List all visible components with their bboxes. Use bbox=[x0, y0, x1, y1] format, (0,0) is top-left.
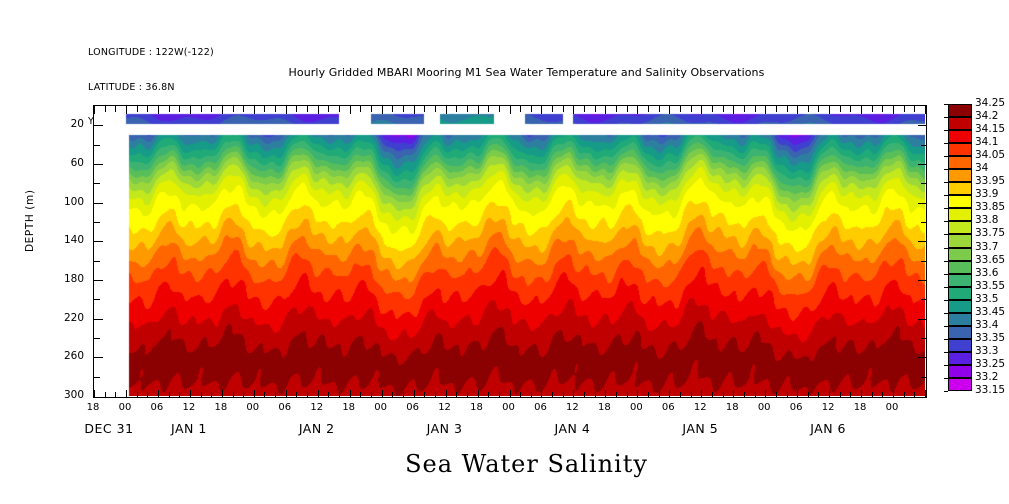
x-tick-bottom bbox=[211, 392, 212, 398]
colorbar-tick bbox=[944, 234, 948, 235]
x-tick-top bbox=[158, 106, 159, 114]
x-tick-top bbox=[744, 106, 745, 112]
colorbar-swatch bbox=[948, 208, 972, 221]
x-tick-bottom bbox=[765, 390, 766, 398]
colorbar-swatch bbox=[948, 326, 972, 339]
colorbar-swatch bbox=[948, 130, 972, 143]
contour-plot bbox=[93, 105, 927, 398]
x-tick-top bbox=[115, 106, 116, 112]
x-tick-bottom bbox=[307, 392, 308, 398]
salinity-field bbox=[94, 106, 926, 397]
x-tick-top bbox=[222, 106, 223, 114]
x-tick-bottom bbox=[787, 392, 788, 398]
x-tick-top bbox=[424, 106, 425, 112]
y-axis-label: 180 bbox=[52, 273, 84, 285]
x-tick-bottom bbox=[275, 392, 276, 398]
y-tick-left bbox=[94, 125, 103, 126]
colorbar-tick bbox=[944, 156, 948, 157]
x-tick-bottom bbox=[808, 392, 809, 398]
x-axis-date-label: JAN 4 bbox=[555, 421, 591, 436]
y-tick-right bbox=[918, 241, 927, 242]
colorbar-row: 34 bbox=[948, 169, 972, 182]
colorbar-row: 34.25 bbox=[948, 104, 972, 117]
x-tick-bottom bbox=[201, 392, 202, 398]
x-tick-bottom bbox=[424, 392, 425, 398]
x-tick-top bbox=[510, 106, 511, 114]
x-tick-bottom bbox=[723, 392, 724, 398]
y-tick-right bbox=[921, 377, 927, 378]
x-tick-top bbox=[243, 106, 244, 112]
y-tick-left bbox=[94, 203, 103, 204]
x-tick-top bbox=[787, 106, 788, 112]
x-axis-hour-label: 00 bbox=[246, 402, 259, 413]
colorbar-tick bbox=[944, 195, 948, 196]
y-tick-right bbox=[921, 222, 927, 223]
x-axis-hour-label: 18 bbox=[726, 402, 739, 413]
colorbar-row: 33.75 bbox=[948, 234, 972, 247]
x-axis-hour-label: 06 bbox=[534, 402, 547, 413]
x-tick-bottom bbox=[222, 390, 223, 398]
x-tick-top bbox=[659, 106, 660, 112]
x-tick-top bbox=[563, 106, 564, 112]
x-axis-hour-label: 12 bbox=[310, 402, 323, 413]
x-axis-hour-label: 06 bbox=[406, 402, 419, 413]
x-tick-top bbox=[541, 106, 542, 114]
y-tick-left bbox=[94, 319, 103, 320]
x-axis-date-label: DEC 31 bbox=[84, 421, 133, 436]
y-axis-label: 220 bbox=[52, 312, 84, 324]
y-tick-right bbox=[918, 280, 927, 281]
x-axis-hour-label: 18 bbox=[598, 402, 611, 413]
colorbar-swatch bbox=[948, 287, 972, 300]
x-tick-top bbox=[925, 106, 926, 114]
x-tick-top bbox=[893, 106, 894, 114]
x-tick-top bbox=[105, 106, 106, 112]
x-tick-bottom bbox=[755, 392, 756, 398]
x-tick-bottom bbox=[382, 390, 383, 398]
x-tick-top bbox=[882, 106, 883, 112]
x-tick-top bbox=[733, 106, 734, 114]
colorbar-tick bbox=[944, 378, 948, 379]
colorbar-swatch bbox=[948, 365, 972, 378]
x-tick-bottom bbox=[818, 392, 819, 398]
colorbar-swatch bbox=[948, 104, 972, 117]
x-tick-bottom bbox=[744, 392, 745, 398]
x-tick-top bbox=[318, 106, 319, 114]
x-tick-bottom bbox=[147, 392, 148, 398]
colorbar-row: 33.9 bbox=[948, 195, 972, 208]
colorbar-row: 34.2 bbox=[948, 117, 972, 130]
colorbar-tick bbox=[944, 221, 948, 222]
colorbar-label: 34.1 bbox=[975, 136, 998, 148]
x-tick-top bbox=[169, 106, 170, 112]
colorbar-row: 33.35 bbox=[948, 339, 972, 352]
x-tick-bottom bbox=[712, 392, 713, 398]
x-tick-bottom bbox=[691, 392, 692, 398]
x-axis-hour-label: 12 bbox=[183, 402, 196, 413]
x-tick-bottom bbox=[371, 392, 372, 398]
colorbar-label: 33.2 bbox=[975, 371, 998, 383]
x-tick-top bbox=[190, 106, 191, 114]
x-tick-top bbox=[861, 106, 862, 114]
x-tick-top bbox=[137, 106, 138, 112]
longitude-text: LONGITUDE : 122W(-122) bbox=[88, 47, 214, 59]
x-tick-bottom bbox=[733, 390, 734, 398]
x-tick-top bbox=[829, 106, 830, 114]
colorbar-label: 33.8 bbox=[975, 214, 998, 226]
colorbar-tick bbox=[944, 300, 948, 301]
x-tick-top bbox=[382, 106, 383, 114]
colorbar-row: 33.3 bbox=[948, 352, 972, 365]
y-tick-right bbox=[918, 357, 927, 358]
x-tick-bottom bbox=[350, 390, 351, 398]
x-tick-bottom bbox=[296, 392, 297, 398]
colorbar-swatch bbox=[948, 300, 972, 313]
x-tick-top bbox=[680, 106, 681, 112]
y-tick-left bbox=[94, 280, 103, 281]
colorbar-swatch bbox=[948, 339, 972, 352]
x-tick-bottom bbox=[861, 390, 862, 398]
x-tick-bottom bbox=[137, 392, 138, 398]
x-tick-bottom bbox=[829, 390, 830, 398]
x-tick-top bbox=[201, 106, 202, 112]
x-tick-top bbox=[616, 106, 617, 112]
x-axis-hour-label: 00 bbox=[502, 402, 515, 413]
x-tick-bottom bbox=[179, 392, 180, 398]
colorbar-label: 33.55 bbox=[975, 280, 1005, 292]
y-tick-right bbox=[921, 299, 927, 300]
colorbar-label: 33.6 bbox=[975, 267, 998, 279]
colorbar-label: 33.25 bbox=[975, 358, 1005, 370]
colorbar-tick bbox=[944, 274, 948, 275]
x-tick-bottom bbox=[584, 392, 585, 398]
x-tick-top bbox=[233, 106, 234, 112]
chart-title: Hourly Gridded MBARI Mooring M1 Sea Wate… bbox=[0, 66, 1009, 79]
latitude-text: LATITUDE : 36.8N bbox=[88, 82, 214, 94]
y-tick-left bbox=[94, 222, 100, 223]
x-tick-top bbox=[818, 106, 819, 112]
x-tick-top bbox=[94, 106, 95, 114]
x-tick-bottom bbox=[446, 390, 447, 398]
x-tick-top bbox=[840, 106, 841, 112]
x-tick-top bbox=[147, 106, 148, 112]
x-axis-hour-label: 06 bbox=[278, 402, 291, 413]
colorbar-tick bbox=[944, 313, 948, 314]
colorbar-row: 33.5 bbox=[948, 300, 972, 313]
colorbar-row: 33.55 bbox=[948, 287, 972, 300]
colorbar-label: 33.85 bbox=[975, 201, 1005, 213]
x-tick-bottom bbox=[520, 392, 521, 398]
colorbar-tick bbox=[944, 208, 948, 209]
colorbar-tick bbox=[944, 326, 948, 327]
x-tick-bottom bbox=[595, 392, 596, 398]
colorbar-row: 33.95 bbox=[948, 182, 972, 195]
x-tick-top bbox=[446, 106, 447, 114]
x-tick-bottom bbox=[264, 392, 265, 398]
x-tick-bottom bbox=[605, 390, 606, 398]
x-tick-top bbox=[360, 106, 361, 112]
y-tick-left bbox=[94, 241, 103, 242]
colorbar: 34.2534.234.1534.134.053433.9533.933.853… bbox=[948, 104, 972, 404]
x-tick-top bbox=[275, 106, 276, 112]
x-axis-hour-label: 18 bbox=[342, 402, 355, 413]
y-tick-right bbox=[921, 145, 927, 146]
colorbar-tick bbox=[944, 143, 948, 144]
colorbar-tick bbox=[944, 117, 948, 118]
colorbar-row: 33.65 bbox=[948, 261, 972, 274]
colorbar-label: 33.65 bbox=[975, 254, 1005, 266]
x-tick-top bbox=[371, 106, 372, 112]
y-axis-label: 100 bbox=[52, 196, 84, 208]
colorbar-tick bbox=[944, 365, 948, 366]
colorbar-tick bbox=[944, 248, 948, 249]
x-tick-bottom bbox=[169, 392, 170, 398]
colorbar-swatch bbox=[948, 261, 972, 274]
x-tick-top bbox=[755, 106, 756, 112]
x-tick-bottom bbox=[669, 390, 670, 398]
x-axis-hour-label: 18 bbox=[854, 402, 867, 413]
colorbar-row: 34.15 bbox=[948, 130, 972, 143]
x-tick-top bbox=[339, 106, 340, 112]
x-tick-top bbox=[904, 106, 905, 112]
x-tick-bottom bbox=[797, 390, 798, 398]
x-tick-top bbox=[179, 106, 180, 112]
colorbar-tick bbox=[944, 352, 948, 353]
x-axis-hour-label: 00 bbox=[886, 402, 899, 413]
x-tick-bottom bbox=[286, 390, 287, 398]
x-tick-bottom bbox=[467, 392, 468, 398]
x-tick-bottom bbox=[563, 392, 564, 398]
x-tick-bottom bbox=[882, 392, 883, 398]
x-axis-date-label: JAN 2 bbox=[299, 421, 335, 436]
x-tick-top bbox=[350, 106, 351, 114]
x-tick-bottom bbox=[233, 392, 234, 398]
x-tick-bottom bbox=[414, 390, 415, 398]
colorbar-swatch bbox=[948, 221, 972, 234]
colorbar-swatch bbox=[948, 169, 972, 182]
x-tick-top bbox=[723, 106, 724, 112]
x-tick-bottom bbox=[360, 392, 361, 398]
x-tick-bottom bbox=[478, 390, 479, 398]
x-tick-bottom bbox=[115, 392, 116, 398]
x-tick-top bbox=[669, 106, 670, 114]
x-tick-bottom bbox=[339, 392, 340, 398]
x-tick-bottom bbox=[435, 392, 436, 398]
x-tick-bottom bbox=[872, 392, 873, 398]
x-tick-bottom bbox=[531, 392, 532, 398]
colorbar-label: 33.5 bbox=[975, 293, 998, 305]
y-axis-label: 300 bbox=[52, 389, 84, 401]
x-tick-top bbox=[296, 106, 297, 112]
x-tick-top bbox=[520, 106, 521, 112]
x-tick-top bbox=[264, 106, 265, 112]
x-tick-bottom bbox=[126, 390, 127, 398]
colorbar-label: 33.75 bbox=[975, 227, 1005, 239]
x-tick-top bbox=[584, 106, 585, 112]
x-tick-top bbox=[552, 106, 553, 112]
x-tick-top bbox=[797, 106, 798, 114]
x-tick-bottom bbox=[243, 392, 244, 398]
colorbar-tick bbox=[944, 391, 948, 392]
colorbar-swatch bbox=[948, 156, 972, 169]
x-tick-top bbox=[712, 106, 713, 112]
x-axis-hour-label: 12 bbox=[694, 402, 707, 413]
y-tick-right bbox=[921, 183, 927, 184]
x-tick-bottom bbox=[840, 392, 841, 398]
colorbar-tick bbox=[944, 104, 948, 105]
colorbar-label: 33.3 bbox=[975, 345, 998, 357]
colorbar-row: 33.45 bbox=[948, 313, 972, 326]
colorbar-row: 33.6 bbox=[948, 274, 972, 287]
colorbar-tick bbox=[944, 182, 948, 183]
colorbar-label: 34.05 bbox=[975, 149, 1005, 161]
x-axis-hour-label: 00 bbox=[630, 402, 643, 413]
y-tick-right bbox=[918, 319, 927, 320]
colorbar-row: 33.85 bbox=[948, 208, 972, 221]
x-tick-top bbox=[605, 106, 606, 114]
x-tick-bottom bbox=[488, 392, 489, 398]
x-tick-top bbox=[467, 106, 468, 112]
x-tick-top bbox=[403, 106, 404, 112]
x-tick-bottom bbox=[893, 390, 894, 398]
x-tick-bottom bbox=[541, 390, 542, 398]
colorbar-swatch bbox=[948, 313, 972, 326]
x-axis-hour-label: 00 bbox=[758, 402, 771, 413]
colorbar-label: 34 bbox=[975, 162, 988, 174]
colorbar-row: 33.25 bbox=[948, 365, 972, 378]
y-axis-label: 20 bbox=[52, 118, 84, 130]
x-tick-top bbox=[478, 106, 479, 114]
y-tick-right bbox=[918, 164, 927, 165]
x-axis-hour-label: 00 bbox=[119, 402, 132, 413]
x-tick-bottom bbox=[158, 390, 159, 398]
variable-title: Sea Water Salinity bbox=[0, 450, 1009, 478]
x-axis-hour-label: 18 bbox=[214, 402, 227, 413]
x-tick-top bbox=[776, 106, 777, 112]
x-tick-bottom bbox=[776, 392, 777, 398]
x-tick-bottom bbox=[850, 392, 851, 398]
colorbar-row: 33.4 bbox=[948, 326, 972, 339]
x-tick-bottom bbox=[637, 390, 638, 398]
colorbar-swatch bbox=[948, 234, 972, 247]
x-tick-top bbox=[872, 106, 873, 112]
x-tick-bottom bbox=[94, 390, 95, 398]
colorbar-label: 33.7 bbox=[975, 241, 998, 253]
x-axis-hour-label: 00 bbox=[374, 402, 387, 413]
x-tick-bottom bbox=[499, 392, 500, 398]
colorbar-row: 33.7 bbox=[948, 248, 972, 261]
x-tick-top bbox=[850, 106, 851, 112]
x-axis-hour-label: 18 bbox=[470, 402, 483, 413]
colorbar-tick bbox=[944, 169, 948, 170]
colorbar-label: 34.15 bbox=[975, 123, 1005, 135]
colorbar-row: 34.1 bbox=[948, 143, 972, 156]
x-axis-hour-label: 06 bbox=[662, 402, 675, 413]
colorbar-swatch bbox=[948, 378, 972, 391]
y-tick-right bbox=[918, 203, 927, 204]
x-tick-bottom bbox=[701, 390, 702, 398]
x-axis-hour-label: 12 bbox=[566, 402, 579, 413]
x-tick-top bbox=[254, 106, 255, 114]
x-tick-top bbox=[328, 106, 329, 112]
y-tick-left bbox=[94, 377, 100, 378]
y-tick-left bbox=[94, 338, 100, 339]
x-tick-top bbox=[488, 106, 489, 112]
y-tick-left bbox=[94, 183, 100, 184]
y-axis-label: 260 bbox=[52, 350, 84, 362]
x-axis-hour-label: 18 bbox=[87, 402, 100, 413]
x-tick-bottom bbox=[318, 390, 319, 398]
x-axis-date-label: JAN 6 bbox=[810, 421, 846, 436]
x-tick-top bbox=[637, 106, 638, 114]
y-tick-left bbox=[94, 145, 100, 146]
x-tick-bottom bbox=[510, 390, 511, 398]
colorbar-row: 34.05 bbox=[948, 156, 972, 169]
colorbar-swatch bbox=[948, 117, 972, 130]
colorbar-swatch bbox=[948, 274, 972, 287]
x-tick-top bbox=[627, 106, 628, 112]
salinity-contour-canvas bbox=[94, 106, 925, 396]
colorbar-row: 33.2 bbox=[948, 378, 972, 391]
x-tick-bottom bbox=[904, 392, 905, 398]
x-tick-top bbox=[414, 106, 415, 114]
x-tick-top bbox=[456, 106, 457, 112]
y-axis-label: 60 bbox=[52, 157, 84, 169]
colorbar-label: 33.15 bbox=[975, 384, 1005, 396]
colorbar-label: 33.9 bbox=[975, 188, 998, 200]
colorbar-label: 33.45 bbox=[975, 306, 1005, 318]
x-tick-top bbox=[392, 106, 393, 112]
x-tick-bottom bbox=[573, 390, 574, 398]
x-tick-top bbox=[435, 106, 436, 112]
x-tick-bottom bbox=[403, 392, 404, 398]
x-tick-bottom bbox=[328, 392, 329, 398]
y-axis-title: DEPTH (m) bbox=[24, 189, 36, 252]
y-tick-right bbox=[921, 338, 927, 339]
colorbar-label: 34.25 bbox=[975, 97, 1005, 109]
x-tick-bottom bbox=[552, 392, 553, 398]
x-axis-date-label: JAN 1 bbox=[171, 421, 207, 436]
y-tick-left bbox=[94, 299, 100, 300]
x-tick-bottom bbox=[392, 392, 393, 398]
colorbar-row: 33.15 bbox=[948, 391, 972, 404]
x-tick-bottom bbox=[190, 390, 191, 398]
colorbar-label: 33.4 bbox=[975, 319, 998, 331]
x-tick-top bbox=[286, 106, 287, 114]
x-tick-bottom bbox=[456, 392, 457, 398]
x-tick-top bbox=[595, 106, 596, 112]
colorbar-swatch bbox=[948, 195, 972, 208]
x-tick-bottom bbox=[616, 392, 617, 398]
x-tick-top bbox=[648, 106, 649, 112]
x-tick-bottom bbox=[627, 392, 628, 398]
x-tick-top bbox=[691, 106, 692, 112]
x-tick-bottom bbox=[680, 392, 681, 398]
x-axis-date-label: JAN 3 bbox=[427, 421, 463, 436]
y-tick-left bbox=[94, 164, 103, 165]
x-tick-top bbox=[307, 106, 308, 112]
colorbar-label: 33.95 bbox=[975, 175, 1005, 187]
y-axis-label: 140 bbox=[52, 234, 84, 246]
y-tick-right bbox=[921, 261, 927, 262]
x-axis-date-label: JAN 5 bbox=[682, 421, 718, 436]
x-axis-hour-label: 06 bbox=[790, 402, 803, 413]
x-tick-top bbox=[573, 106, 574, 114]
x-axis-hour-label: 12 bbox=[822, 402, 835, 413]
colorbar-swatch bbox=[948, 248, 972, 261]
x-axis-hour-label: 06 bbox=[151, 402, 164, 413]
colorbar-swatch bbox=[948, 143, 972, 156]
